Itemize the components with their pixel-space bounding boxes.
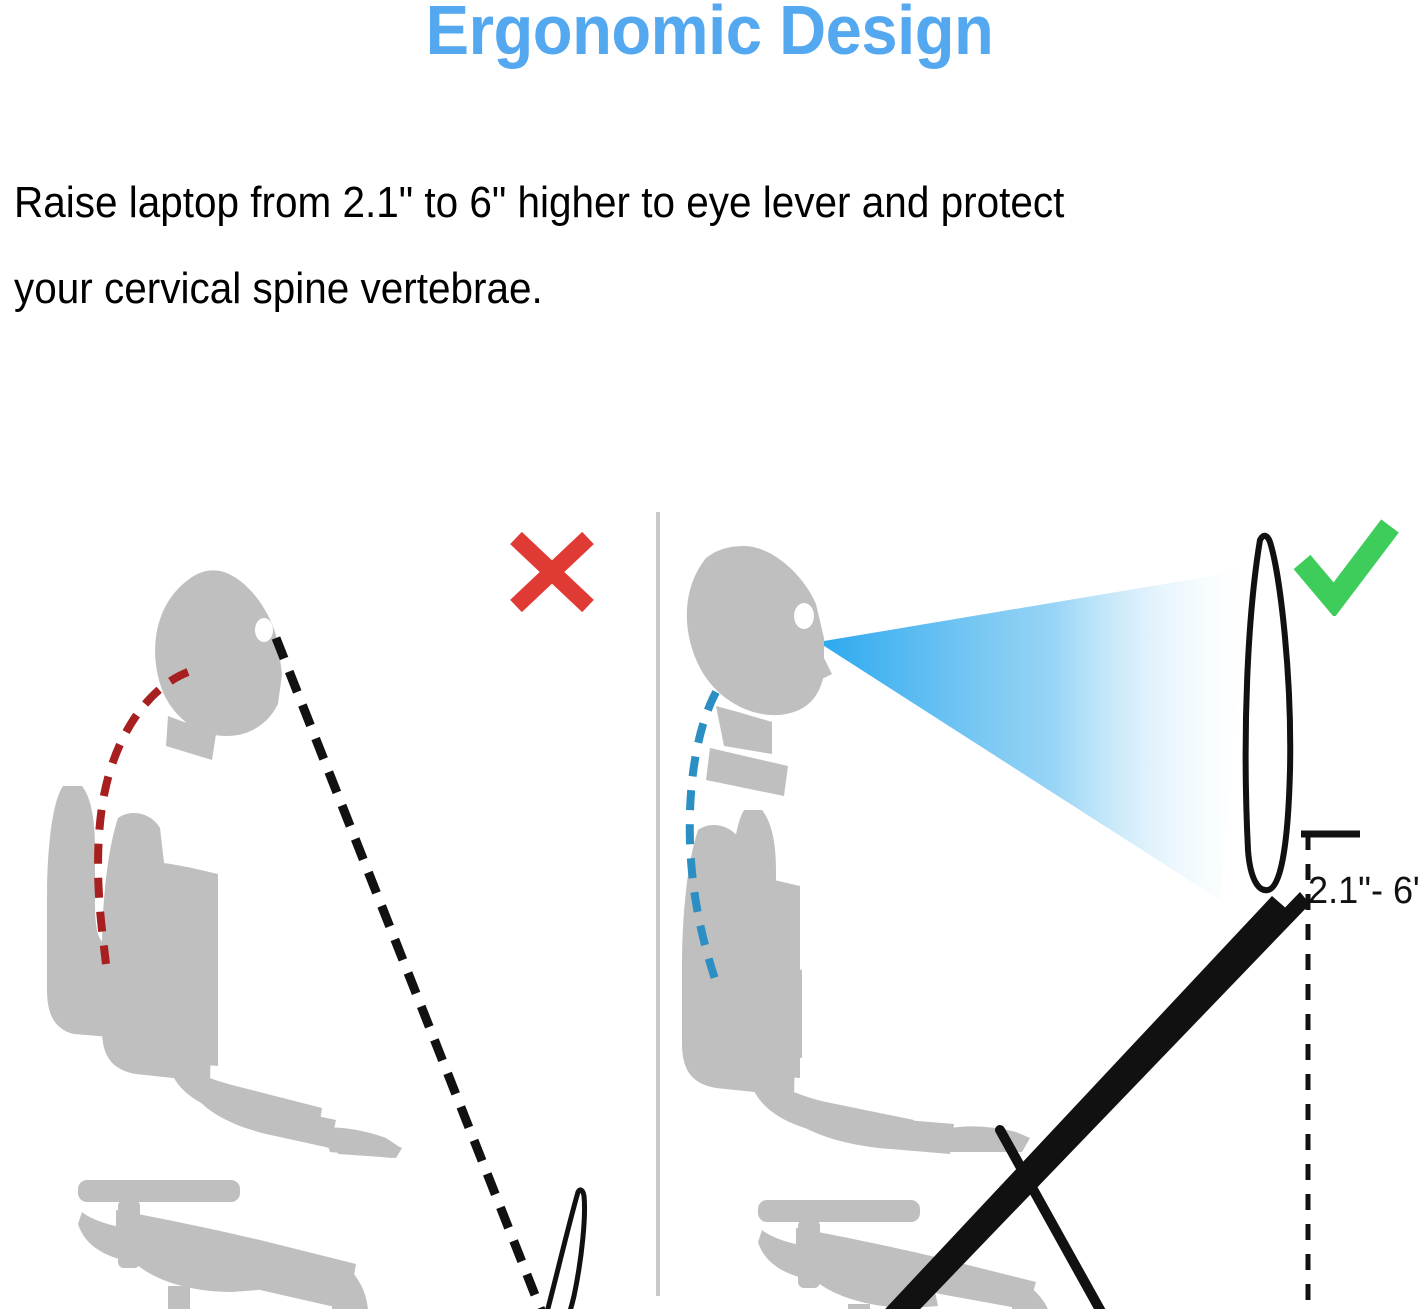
check-icon xyxy=(1302,526,1390,600)
seated-figure-hunched xyxy=(47,570,402,1309)
page-title: Ergonomic Design xyxy=(50,0,1370,68)
vision-cone xyxy=(818,570,1248,900)
subtitle-line-2: your cervical spine vertebrae. xyxy=(14,246,1288,332)
check-mark-badge xyxy=(1290,516,1400,616)
illustration-area: 2.1"- 6" xyxy=(0,430,1419,1309)
subtitle-block: Raise laptop from 2.1" to 6" higher to e… xyxy=(14,160,1288,332)
sightline-incorrect xyxy=(276,638,548,1309)
cross-mark-badge xyxy=(498,522,608,622)
dimension-label: 2.1"- 6" xyxy=(1308,870,1419,913)
close-icon xyxy=(516,538,588,606)
laptop-on-desk xyxy=(330,1190,585,1309)
subtitle-line-1: Raise laptop from 2.1" to 6" higher to e… xyxy=(14,160,1288,246)
